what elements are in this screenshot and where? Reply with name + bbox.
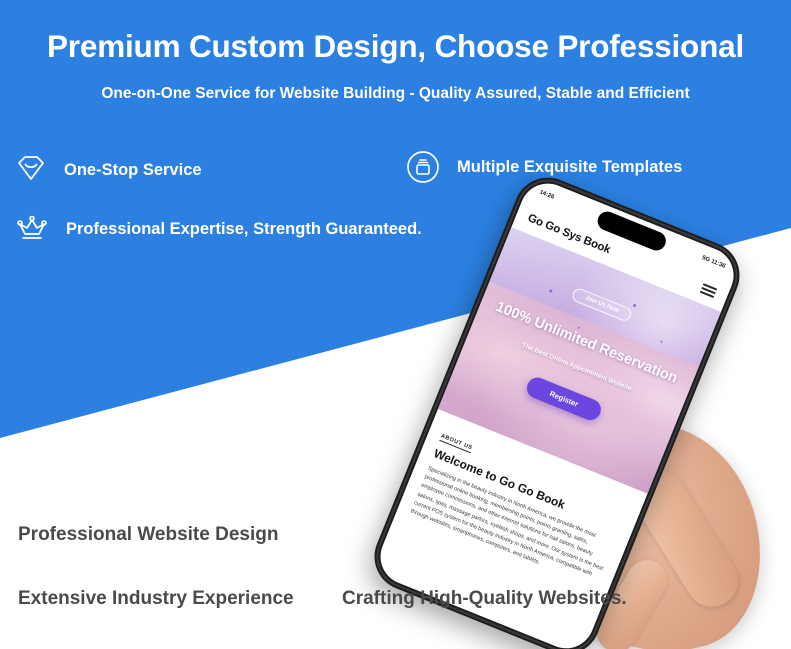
templates-icon (406, 150, 440, 184)
phone-in-hand-illustration: 14:26 5G 11:36 Go Go Sys Book J (398, 196, 791, 649)
sparkle-dot (549, 289, 553, 293)
tagline-extensive-industry-experience: Extensive Industry Experience (18, 588, 294, 610)
sparkle-dot (633, 304, 637, 308)
page-subtitle: One-on-One Service for Website Building … (0, 83, 791, 105)
feature-multiple-templates: Multiple Exquisite Templates (406, 150, 682, 184)
promo-banner: Premium Custom Design, Choose Profession… (0, 0, 791, 649)
status-time: 14:26 (538, 189, 554, 200)
headline-block: Premium Custom Design, Choose Profession… (0, 26, 791, 105)
feature-one-stop-service: One-Stop Service (14, 155, 202, 185)
feature-professional-expertise: Professional Expertise, Strength Guarant… (14, 213, 422, 245)
tagline-professional-website-design: Professional Website Design (18, 524, 278, 546)
feature-label: One-Stop Service (64, 160, 202, 180)
hamburger-menu-icon[interactable] (700, 283, 718, 298)
diamond-icon (14, 155, 48, 185)
feature-label: Professional Expertise, Strength Guarant… (66, 219, 422, 239)
status-signal-battery: 5G 11:36 (701, 255, 726, 270)
page-title: Premium Custom Design, Choose Profession… (0, 26, 791, 66)
crown-icon (14, 213, 50, 245)
sparkle-dot (660, 340, 663, 343)
tagline-crafting-high-quality-websites: Crafting High-Quality Websites. (342, 588, 627, 610)
feature-label: Multiple Exquisite Templates (457, 157, 682, 177)
